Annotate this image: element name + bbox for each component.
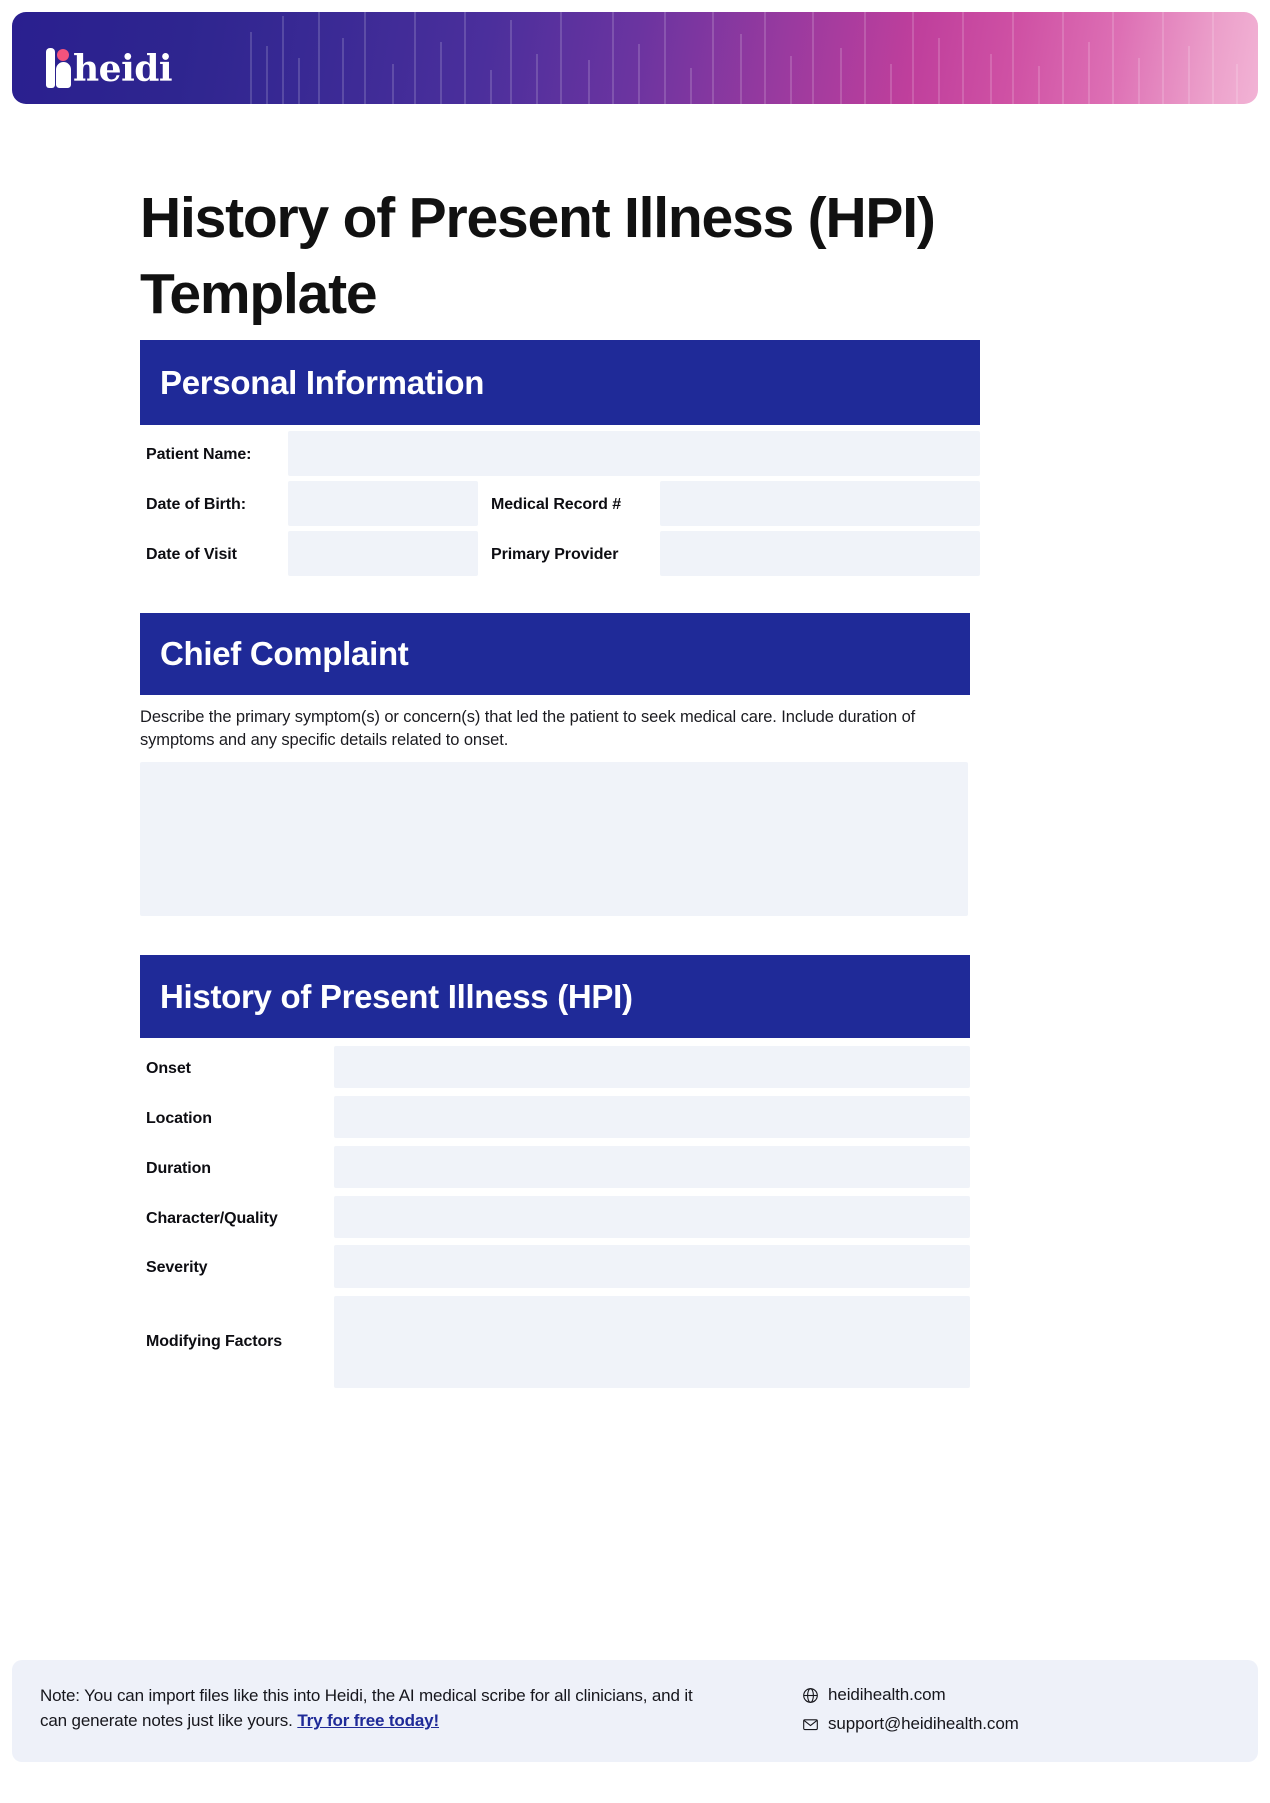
- page-title: History of Present Illness (HPI) Templat…: [140, 180, 1000, 332]
- envelope-icon: [802, 1716, 819, 1733]
- footer-note: Note: You can import files like this int…: [40, 1683, 700, 1733]
- label-severity: Severity: [146, 1258, 207, 1278]
- field-medical-record-number[interactable]: [660, 481, 980, 526]
- section-header-history-of-present-illness: History of Present Illness (HPI): [140, 955, 970, 1038]
- label-date-of-visit: Date of Visit: [146, 545, 237, 565]
- field-primary-provider[interactable]: [660, 531, 980, 576]
- field-location[interactable]: [334, 1096, 970, 1138]
- label-character-quality: Character/Quality: [146, 1209, 278, 1229]
- footer-website[interactable]: heidihealth.com: [802, 1685, 1019, 1705]
- label-patient-name: Patient Name:: [146, 445, 251, 465]
- field-duration[interactable]: [334, 1146, 970, 1188]
- heidi-logo-text: heidi: [73, 50, 172, 88]
- field-onset[interactable]: [334, 1046, 970, 1088]
- field-severity[interactable]: [334, 1245, 970, 1288]
- label-duration: Duration: [146, 1159, 211, 1179]
- section-header-label: History of Present Illness (HPI): [160, 978, 633, 1016]
- footer-email-text: support@heidihealth.com: [828, 1714, 1019, 1734]
- document-page: heidi History of Present Illness (HPI) T…: [0, 0, 1270, 1803]
- heidi-logomark-icon: [46, 48, 72, 88]
- field-date-of-visit[interactable]: [288, 531, 478, 576]
- field-character-quality[interactable]: [334, 1196, 970, 1238]
- label-location: Location: [146, 1109, 212, 1129]
- section-header-chief-complaint: Chief Complaint: [140, 613, 970, 695]
- field-patient-name[interactable]: [288, 431, 980, 476]
- brand-banner: heidi: [12, 12, 1258, 104]
- banner-line-pattern: [12, 12, 1258, 104]
- footer-email[interactable]: support@heidihealth.com: [802, 1714, 1019, 1734]
- label-primary-provider: Primary Provider: [491, 545, 618, 565]
- globe-icon: [802, 1687, 819, 1704]
- footer-contacts: heidihealth.com support@heidihealth.com: [802, 1685, 1019, 1734]
- section-header-label: Chief Complaint: [160, 635, 409, 673]
- field-date-of-birth[interactable]: [288, 481, 478, 526]
- heidi-logo[interactable]: heidi: [46, 48, 172, 88]
- field-chief-complaint[interactable]: [140, 762, 968, 916]
- label-modifying-factors: Modifying Factors: [146, 1332, 282, 1352]
- footer-banner: Note: You can import files like this int…: [12, 1660, 1258, 1762]
- label-medical-record-number: Medical Record #: [491, 495, 621, 515]
- section-header-label: Personal Information: [160, 364, 484, 402]
- footer-website-text: heidihealth.com: [828, 1685, 946, 1705]
- chief-complaint-description: Describe the primary symptom(s) or conce…: [140, 706, 970, 752]
- label-date-of-birth: Date of Birth:: [146, 495, 246, 515]
- try-for-free-link[interactable]: Try for free today!: [297, 1711, 439, 1730]
- field-modifying-factors[interactable]: [334, 1296, 970, 1388]
- section-header-personal-information: Personal Information: [140, 340, 980, 425]
- label-onset: Onset: [146, 1059, 191, 1079]
